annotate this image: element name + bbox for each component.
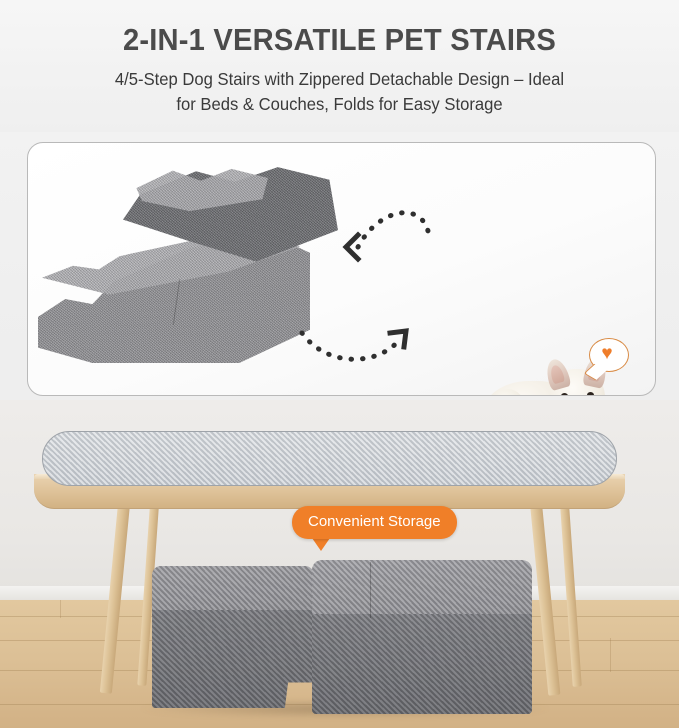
folded-stairs-stored (152, 566, 532, 714)
page-subtitle-line2: for Beds & Couches, Folds for Easy Stora… (17, 92, 662, 117)
product-infographic-page: 2-IN-1 VERSATILE PET STAIRS 4/5-Step Dog… (0, 0, 679, 728)
floor-plank-seam (60, 600, 61, 618)
heart-icon: ♥ (598, 345, 616, 362)
folded-right-top (312, 560, 532, 618)
dog-eye-left (561, 393, 568, 396)
floor-plank-seam (610, 638, 611, 672)
page-subtitle-line1: 4/5-Step Dog Stairs with Zippered Detach… (17, 58, 662, 92)
storage-badge-tail (312, 538, 330, 551)
bench-cushion (42, 431, 617, 486)
page-title: 2-IN-1 VERSATILE PET STAIRS (20, 0, 658, 58)
header: 2-IN-1 VERSATILE PET STAIRS 4/5-Step Dog… (0, 0, 679, 132)
dog-eye-right (587, 392, 594, 396)
arrow-lower-right (302, 331, 406, 359)
storage-badge: Convenient Storage (292, 506, 457, 539)
folded-right-side (312, 614, 532, 714)
product-comparison-panel: ♥ (27, 142, 656, 396)
arrow-upper-left (346, 213, 428, 259)
folded-seam (370, 562, 371, 618)
folded-left-top (152, 566, 314, 614)
lifestyle-storage-scene (0, 400, 679, 728)
folded-left-side (152, 610, 314, 708)
